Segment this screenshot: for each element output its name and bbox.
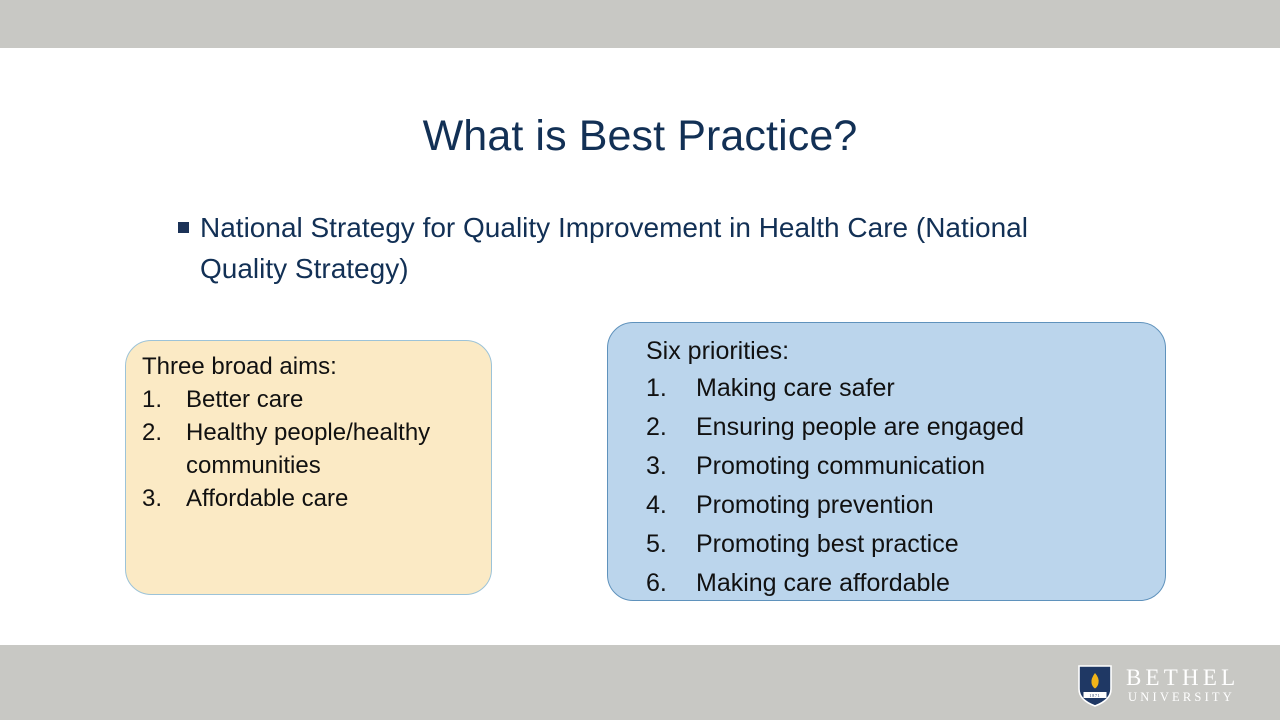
square-bullet-icon [178, 222, 189, 233]
list-item: 6. Making care affordable [646, 564, 1149, 603]
list-item: 4. Promoting prevention [646, 486, 1149, 525]
list-item: 5. Promoting best practice [646, 525, 1149, 564]
list-item-number: 3. [646, 447, 696, 486]
list-item-text: Promoting communication [696, 447, 1149, 486]
aims-box: Three broad aims: 1. Better care 2. Heal… [125, 340, 492, 595]
list-item-text: Better care [186, 383, 477, 416]
main-bullet-text: National Strategy for Quality Improvemen… [200, 207, 1108, 289]
list-item: 2. Ensuring people are engaged [646, 408, 1149, 447]
list-item: 1. Making care safer [646, 369, 1149, 408]
list-item-text: Healthy people/healthy communities [186, 416, 477, 482]
page-title: What is Best Practice? [0, 112, 1280, 161]
list-item-number: 1. [142, 383, 186, 416]
logo-wordmark: BETHEL UNIVERSITY [1126, 666, 1239, 705]
list-item-text: Ensuring people are engaged [696, 408, 1149, 447]
list-item-text: Making care safer [696, 369, 1149, 408]
list-item: 3. Promoting communication [646, 447, 1149, 486]
list-item: 2. Healthy people/healthy communities [142, 416, 477, 482]
list-item-number: 1. [646, 369, 696, 408]
list-item-text: Affordable care [186, 482, 477, 515]
list-item-number: 2. [142, 416, 186, 449]
list-item-number: 5. [646, 525, 696, 564]
aims-box-heading: Three broad aims: [142, 350, 477, 383]
logo-subtitle: UNIVERSITY [1126, 690, 1239, 705]
priorities-box-heading: Six priorities: [646, 334, 1149, 369]
top-band [0, 0, 1280, 48]
list-item-number: 2. [646, 408, 696, 447]
priorities-box: Six priorities: 1. Making care safer 2. … [607, 322, 1166, 601]
list-item-text: Making care affordable [696, 564, 1149, 603]
shield-icon: 1871 [1076, 662, 1114, 708]
list-item-text: Promoting prevention [696, 486, 1149, 525]
logo-name: BETHEL [1126, 666, 1239, 690]
list-item-text: Promoting best practice [696, 525, 1149, 564]
aims-list: 1. Better care 2. Healthy people/healthy… [142, 383, 477, 515]
main-bullet: National Strategy for Quality Improvemen… [178, 207, 1108, 289]
list-item-number: 4. [646, 486, 696, 525]
bethel-university-logo: 1871 BETHEL UNIVERSITY [1076, 659, 1246, 711]
list-item-number: 6. [646, 564, 696, 603]
svg-text:1871: 1871 [1089, 693, 1100, 698]
priorities-list: 1. Making care safer 2. Ensuring people … [646, 369, 1149, 603]
list-item: 1. Better care [142, 383, 477, 416]
list-item-number: 3. [142, 482, 186, 515]
list-item: 3. Affordable care [142, 482, 477, 515]
